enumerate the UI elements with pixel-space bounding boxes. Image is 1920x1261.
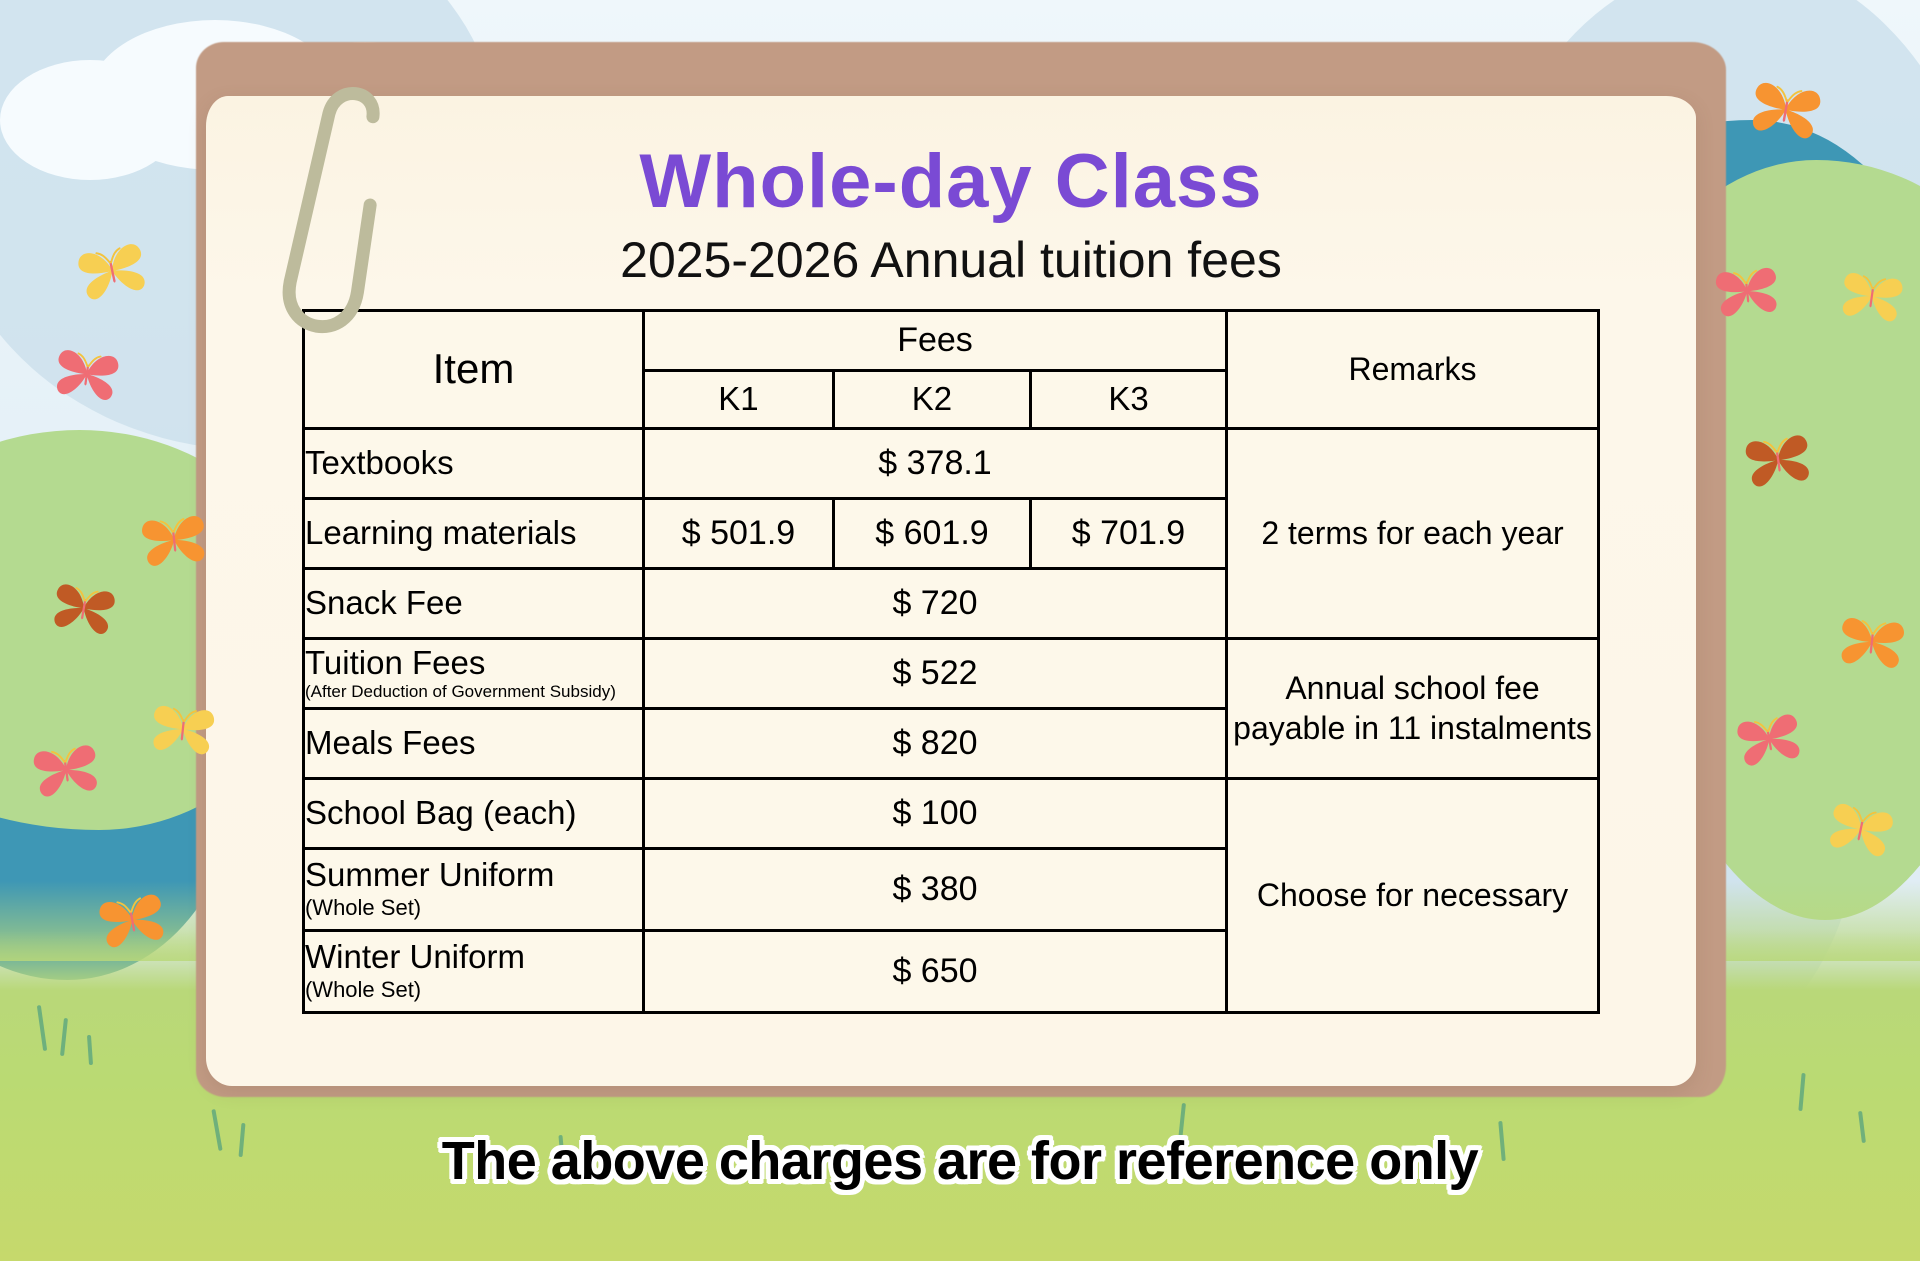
butterfly-pink-3 — [1709, 258, 1784, 321]
butterfly-pink — [48, 340, 125, 405]
header-k2: K2 — [833, 370, 1030, 428]
row-item-label: Learning materials — [303, 498, 643, 568]
row-item-label: School Bag (each) — [303, 778, 643, 848]
row-fee-all: $ 100 — [643, 778, 1226, 848]
item-name: Winter Uniform — [305, 938, 525, 975]
page-title: Whole-day Class — [206, 144, 1696, 220]
header-k1: K1 — [643, 370, 833, 428]
item-subnote: (After Deduction of Government Subsidy) — [305, 683, 642, 702]
item-name: Summer Uniform — [305, 856, 554, 893]
row-item-label: Textbooks — [303, 428, 643, 498]
row-item-label: Tuition Fees (After Deduction of Governm… — [303, 638, 643, 708]
row-item-label: Winter Uniform (Whole Set) — [303, 930, 643, 1012]
item-subnote: (Whole Set) — [305, 977, 642, 1002]
item-name: School Bag (each) — [305, 794, 577, 831]
table-row: Tuition Fees (After Deduction of Governm… — [303, 638, 1598, 708]
footer-note: The above charges are for reference only — [0, 1130, 1920, 1192]
butterfly-orange-4 — [1833, 608, 1911, 673]
poster-content: Whole-day Class 2025-2026 Annual tuition… — [206, 96, 1696, 1086]
page-subtitle: 2025-2026 Annual tuition fees — [206, 234, 1696, 287]
row-item-label: Snack Fee — [303, 568, 643, 638]
row-fee-all: $ 820 — [643, 708, 1226, 778]
row-fee-all: $ 522 — [643, 638, 1226, 708]
row-remark: Annual school feepayable in 11 instalmen… — [1227, 638, 1599, 778]
header-remarks: Remarks — [1227, 310, 1599, 428]
fees-table: Item Fees Remarks K1 K2 K3 Textbooks $ 3… — [302, 309, 1600, 1014]
butterfly-orange — [135, 506, 213, 571]
butterfly-orange-3 — [1743, 72, 1828, 145]
table-row: School Bag (each) $ 100 Choose for neces… — [303, 778, 1598, 848]
row-fee-all: $ 380 — [643, 848, 1226, 930]
row-fee-k3: $ 701.9 — [1030, 498, 1226, 568]
table-header-row-1: Item Fees Remarks — [303, 310, 1598, 370]
item-name: Learning materials — [305, 514, 576, 551]
butterfly-orange-2 — [92, 884, 173, 953]
row-fee-k2: $ 601.9 — [833, 498, 1030, 568]
row-fee-k1: $ 501.9 — [643, 498, 833, 568]
row-item-label: Meals Fees — [303, 708, 643, 778]
butterfly-yellow-3 — [1835, 264, 1910, 327]
item-name: Tuition Fees — [305, 644, 485, 681]
item-name: Meals Fees — [305, 724, 476, 761]
header-item: Item — [303, 310, 643, 428]
row-remark: 2 terms for each year — [1227, 428, 1599, 638]
item-subnote: (Whole Set) — [305, 895, 642, 920]
header-k3: K3 — [1030, 370, 1226, 428]
poster-canvas: Whole-day Class 2025-2026 Annual tuition… — [0, 0, 1920, 1261]
table-row: Textbooks $ 378.1 2 terms for each year — [303, 428, 1598, 498]
row-item-label: Summer Uniform (Whole Set) — [303, 848, 643, 930]
header-fees-group: Fees — [643, 310, 1226, 370]
butterfly-pink-4 — [1730, 704, 1809, 771]
row-fee-all: $ 720 — [643, 568, 1226, 638]
item-name: Snack Fee — [305, 584, 463, 621]
butterfly-pink-2 — [26, 735, 105, 802]
row-remark: Choose for necessary — [1227, 778, 1599, 1012]
butterfly-darkorange-2 — [1738, 425, 1817, 492]
row-fee-all: $ 378.1 — [643, 428, 1226, 498]
butterfly-darkorange — [46, 575, 122, 640]
row-fee-all: $ 650 — [643, 930, 1226, 1012]
item-name: Textbooks — [305, 444, 454, 481]
footer-note-text: The above charges are for reference only — [442, 1130, 1478, 1192]
